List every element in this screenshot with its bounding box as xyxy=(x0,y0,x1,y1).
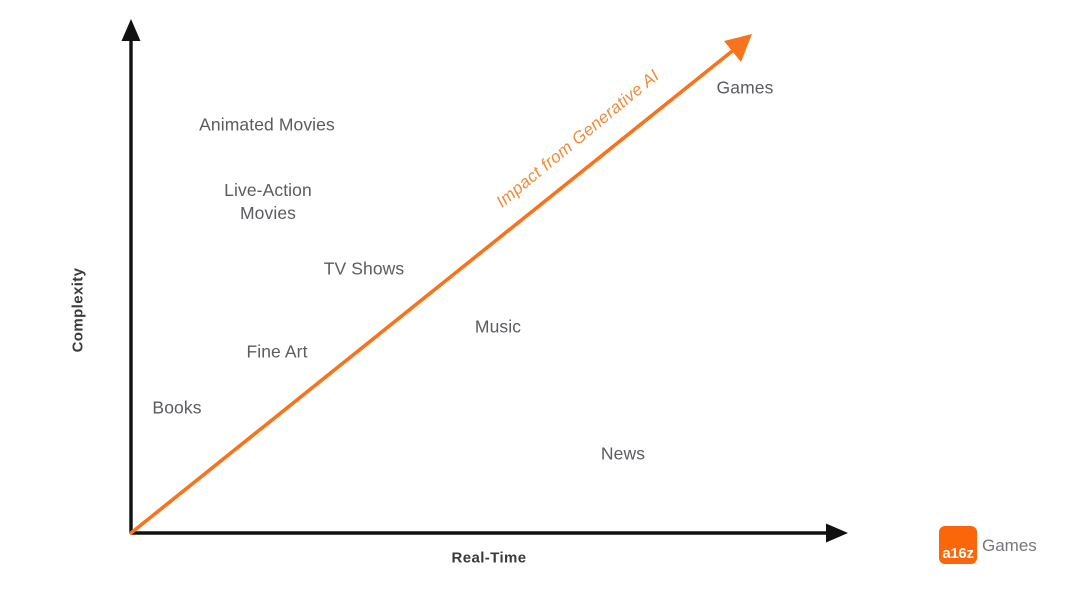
point-label-live-action-movies: Live-Action Movies xyxy=(224,179,312,225)
x-axis-title: Real-Time xyxy=(451,550,526,567)
chart-root: Animated Movies Live-Action Movies TV Sh… xyxy=(0,0,1080,603)
point-label-games: Games xyxy=(717,76,774,99)
point-label-tv-shows: TV Shows xyxy=(324,257,405,280)
y-axis-arrowhead xyxy=(122,19,141,41)
chart-canvas xyxy=(0,0,1080,603)
y-axis-title: Complexity xyxy=(70,268,87,353)
brand-logo: a16z Games xyxy=(939,526,1037,564)
trend-arrowhead xyxy=(724,34,752,62)
a16z-logo-mark: a16z xyxy=(939,526,977,564)
point-label-music: Music xyxy=(475,315,521,338)
point-label-fine-art: Fine Art xyxy=(246,340,307,363)
brand-wordmark-games: Games xyxy=(982,537,1037,554)
point-label-animated-movies: Animated Movies xyxy=(199,113,335,136)
point-label-news: News xyxy=(601,442,645,465)
a16z-logo-mark-text: a16z xyxy=(942,546,973,561)
x-axis-arrowhead xyxy=(826,524,848,543)
point-label-books: Books xyxy=(152,396,201,419)
